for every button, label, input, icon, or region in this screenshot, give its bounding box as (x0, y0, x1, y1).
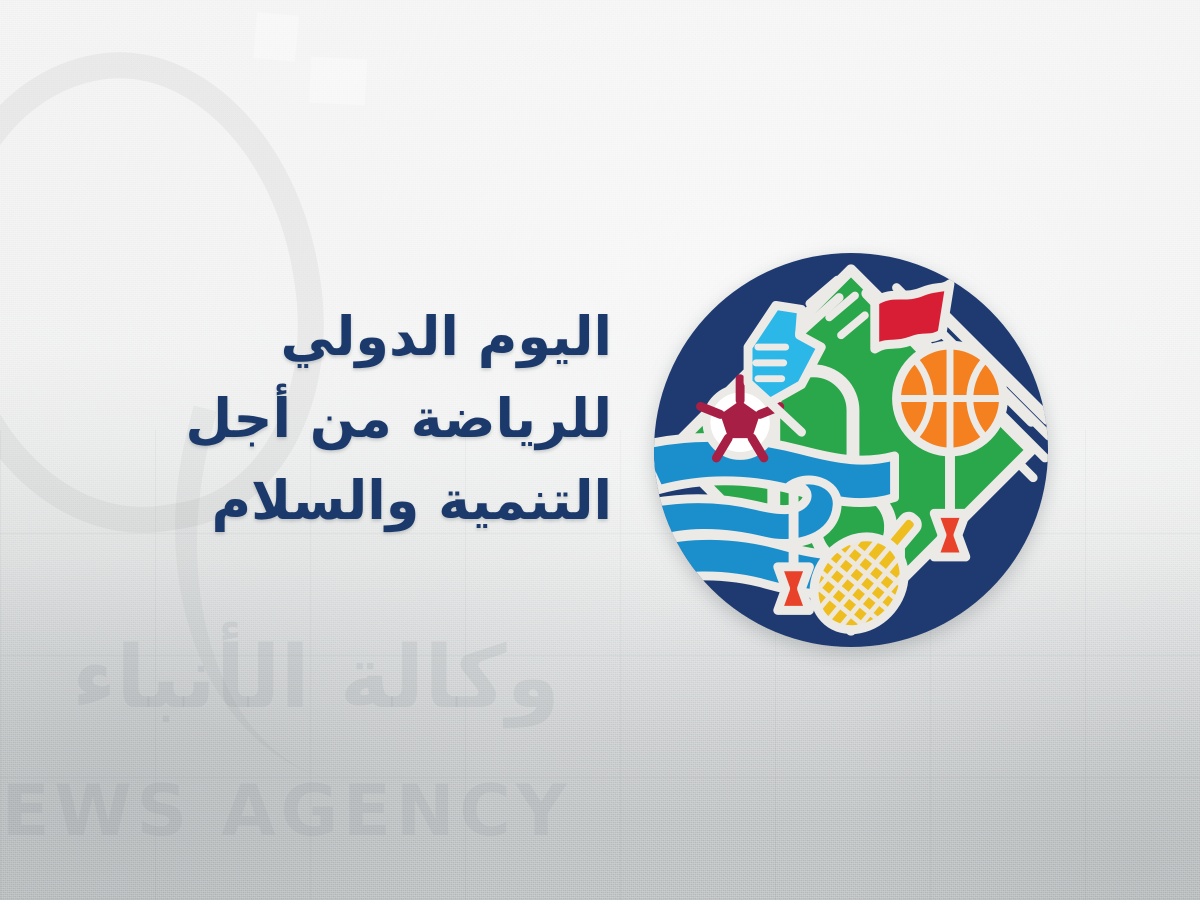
headline-line-1: اليوم الدولي (142, 296, 612, 378)
headline-line-3: التنمية والسلام (142, 460, 612, 542)
poster-canvas: وكالة الأنباء NEWS AGENCY اليوم الدولي ل… (0, 0, 1200, 900)
watermark-highlight-a (253, 12, 299, 61)
page-title: اليوم الدولي للرياضة من أجل التنمية والس… (142, 296, 612, 542)
basketball-icon (897, 345, 1004, 452)
international-day-of-sport-emblem (653, 252, 1049, 648)
watermark-english-text: NEWS AGENCY (0, 770, 558, 852)
watermark-arabic-text: وكالة الأنباء (0, 628, 560, 728)
watermark-highlight-b (309, 57, 367, 106)
headline-line-2: للرياضة من أجل (142, 378, 612, 460)
